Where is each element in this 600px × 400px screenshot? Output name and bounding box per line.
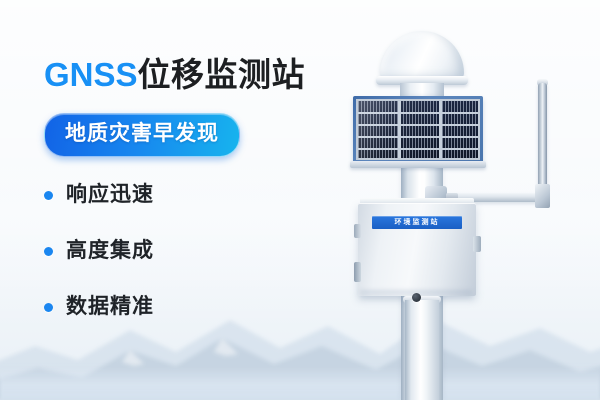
monitoring-station-illustration: 环境监测站 (330, 0, 600, 400)
list-item: 数据精准 (44, 294, 154, 320)
solar-panel-frame (353, 96, 483, 163)
enclosure-label-text: 环境监测站 (395, 216, 440, 229)
solar-panel-base-rail (350, 161, 486, 168)
feature-list: 响应迅速 高度集成 数据精准 (44, 182, 154, 350)
tagline-badge-label: 地质灾害早发现 (65, 122, 219, 145)
bullet-dot-icon (44, 303, 53, 312)
solar-panel-cells (356, 99, 480, 160)
bracket-end-mount (535, 184, 550, 208)
feature-label: 高度集成 (66, 238, 154, 264)
mounting-pole-lower (405, 300, 439, 400)
feature-label: 响应迅速 (66, 182, 154, 208)
pole-bolt (412, 293, 421, 302)
tagline-badge: 地质灾害早发现 (44, 113, 240, 157)
enclosure-label-strip: 环境监测站 (372, 216, 462, 229)
solar-panel (353, 96, 483, 163)
enclosure-hinge-bottom (354, 262, 361, 282)
list-item: 高度集成 (44, 238, 154, 264)
page-title-brand: GNSS (44, 56, 138, 93)
list-item: 响应迅速 (44, 182, 154, 208)
whip-antenna (538, 83, 547, 193)
enclosure-hinge-top (354, 224, 361, 238)
gnss-antenna-dome (380, 31, 464, 79)
promo-banner: GNSS位移监测站 地质灾害早发现 响应迅速 高度集成 数据精准 (0, 0, 600, 400)
page-title: GNSS位移监测站 (44, 55, 305, 95)
bullet-dot-icon (44, 191, 53, 200)
enclosure-latch (473, 236, 481, 252)
feature-label: 数据精准 (66, 294, 154, 320)
bullet-dot-icon (44, 247, 53, 256)
page-title-rest: 位移监测站 (138, 56, 306, 93)
